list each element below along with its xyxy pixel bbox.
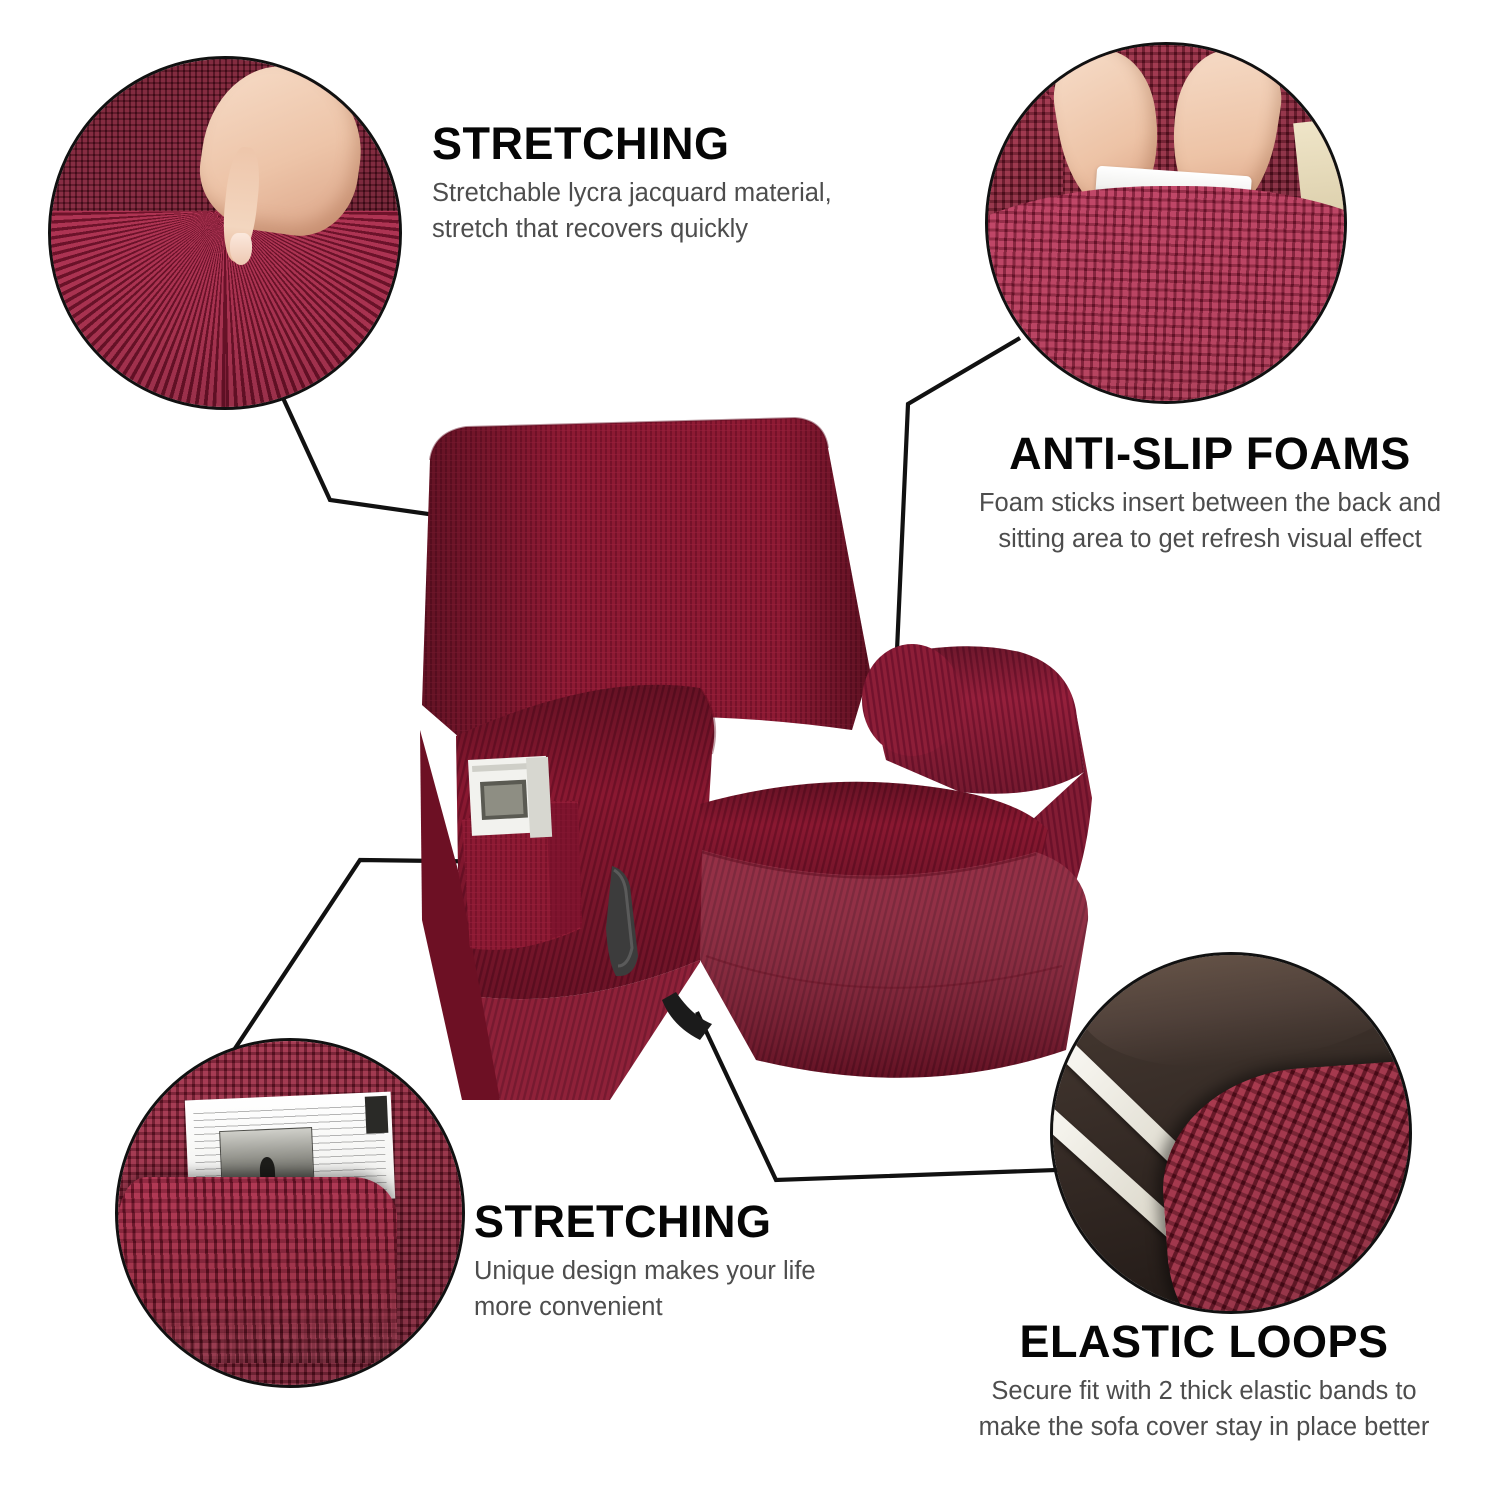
pocket-front-panel [119, 1177, 397, 1362]
infographic-canvas: STRETCHING Stretchable lycra jacquard ma… [0, 0, 1500, 1500]
recliner-right-armrest [862, 644, 1084, 794]
recliner-mechanism-gap [662, 992, 712, 1040]
callout-text-elastic-loops: ELASTIC LOOPS Secure fit with 2 thick el… [918, 1318, 1490, 1446]
body-elastic-loops: Secure fit with 2 thick elastic bands to… [918, 1373, 1490, 1445]
callout-photo-stretching-material [48, 56, 402, 410]
callout-photo-elastic-loops [1050, 952, 1412, 1314]
sofa-seat-fabric [985, 186, 1347, 404]
headline-stretching-material: STRETCHING [432, 120, 952, 167]
callout-text-anti-slip-foams: ANTI-SLIP FOAMS Foam sticks insert betwe… [930, 430, 1490, 558]
body-stretching-material: Stretchable lycra jacquard material, str… [432, 175, 952, 247]
callout-photo-side-pocket [115, 1038, 465, 1388]
headline-stretching-pocket: STRETCHING [474, 1198, 944, 1245]
pocket-item-remote [468, 756, 552, 838]
callout-text-stretching-material: STRETCHING Stretchable lycra jacquard ma… [432, 120, 952, 248]
headline-anti-slip-foams: ANTI-SLIP FOAMS [930, 430, 1490, 477]
headline-elastic-loops: ELASTIC LOOPS [918, 1318, 1490, 1365]
body-stretching-pocket: Unique design makes your life more conve… [474, 1253, 944, 1325]
callout-photo-anti-slip-foams [985, 42, 1347, 404]
book-spine-tag [364, 1096, 388, 1133]
body-anti-slip-foams: Foam sticks insert between the back and … [930, 485, 1490, 557]
callout-text-stretching-pocket: STRETCHING Unique design makes your life… [474, 1198, 944, 1326]
recliner-footrest [700, 850, 1088, 1078]
